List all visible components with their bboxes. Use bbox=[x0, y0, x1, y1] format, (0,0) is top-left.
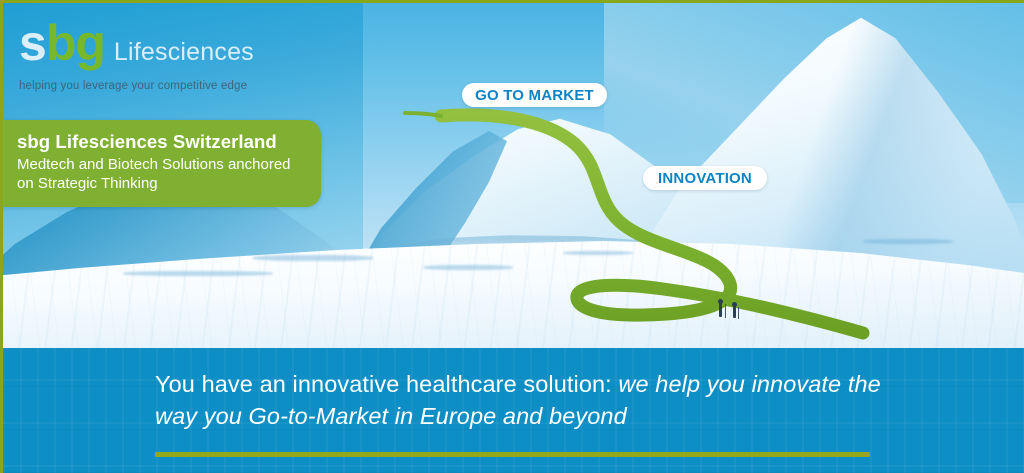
label-go-to-market[interactable]: GO TO MARKET bbox=[462, 83, 607, 107]
headline: You have an innovative healthcare soluti… bbox=[155, 368, 914, 433]
hiker-figure bbox=[719, 302, 722, 317]
mountain-scene: GO TO MARKET INNOVATION s bg Lifescience… bbox=[3, 3, 1024, 351]
hiker-head bbox=[732, 302, 737, 307]
headline-block: You have an innovative healthcare soluti… bbox=[155, 368, 914, 457]
callout-subtitle: Medtech and Biotech Solutions anchored o… bbox=[17, 155, 307, 193]
hiker-head bbox=[718, 299, 723, 304]
headline-band: You have an innovative healthcare soluti… bbox=[3, 348, 1024, 473]
hiker-pole bbox=[725, 304, 726, 318]
headline-lead: You have an innovative healthcare soluti… bbox=[155, 371, 618, 397]
logo-mark-bg: bg bbox=[46, 19, 105, 67]
sbg-logo[interactable]: s bg Lifesciences helping you leverage y… bbox=[19, 19, 319, 92]
label-innovation-text: INNOVATION bbox=[658, 170, 752, 187]
sbg-lifesciences-banner: GO TO MARKET INNOVATION s bg Lifescience… bbox=[0, 0, 1024, 473]
logo-wordmark: Lifesciences bbox=[114, 38, 254, 67]
logo-tagline: helping you leverage your competitive ed… bbox=[19, 80, 319, 92]
callout-box: sbg Lifesciences Switzerland Medtech and… bbox=[3, 120, 321, 207]
callout-title: sbg Lifesciences Switzerland bbox=[17, 131, 307, 153]
label-innovation[interactable]: INNOVATION bbox=[643, 166, 767, 190]
accent-rule bbox=[155, 452, 870, 457]
logo-lockup: s bg Lifesciences bbox=[19, 19, 319, 67]
logo-mark-s: s bbox=[19, 19, 46, 67]
label-go-to-market-text: GO TO MARKET bbox=[475, 87, 594, 104]
hiker-pole bbox=[738, 307, 739, 319]
